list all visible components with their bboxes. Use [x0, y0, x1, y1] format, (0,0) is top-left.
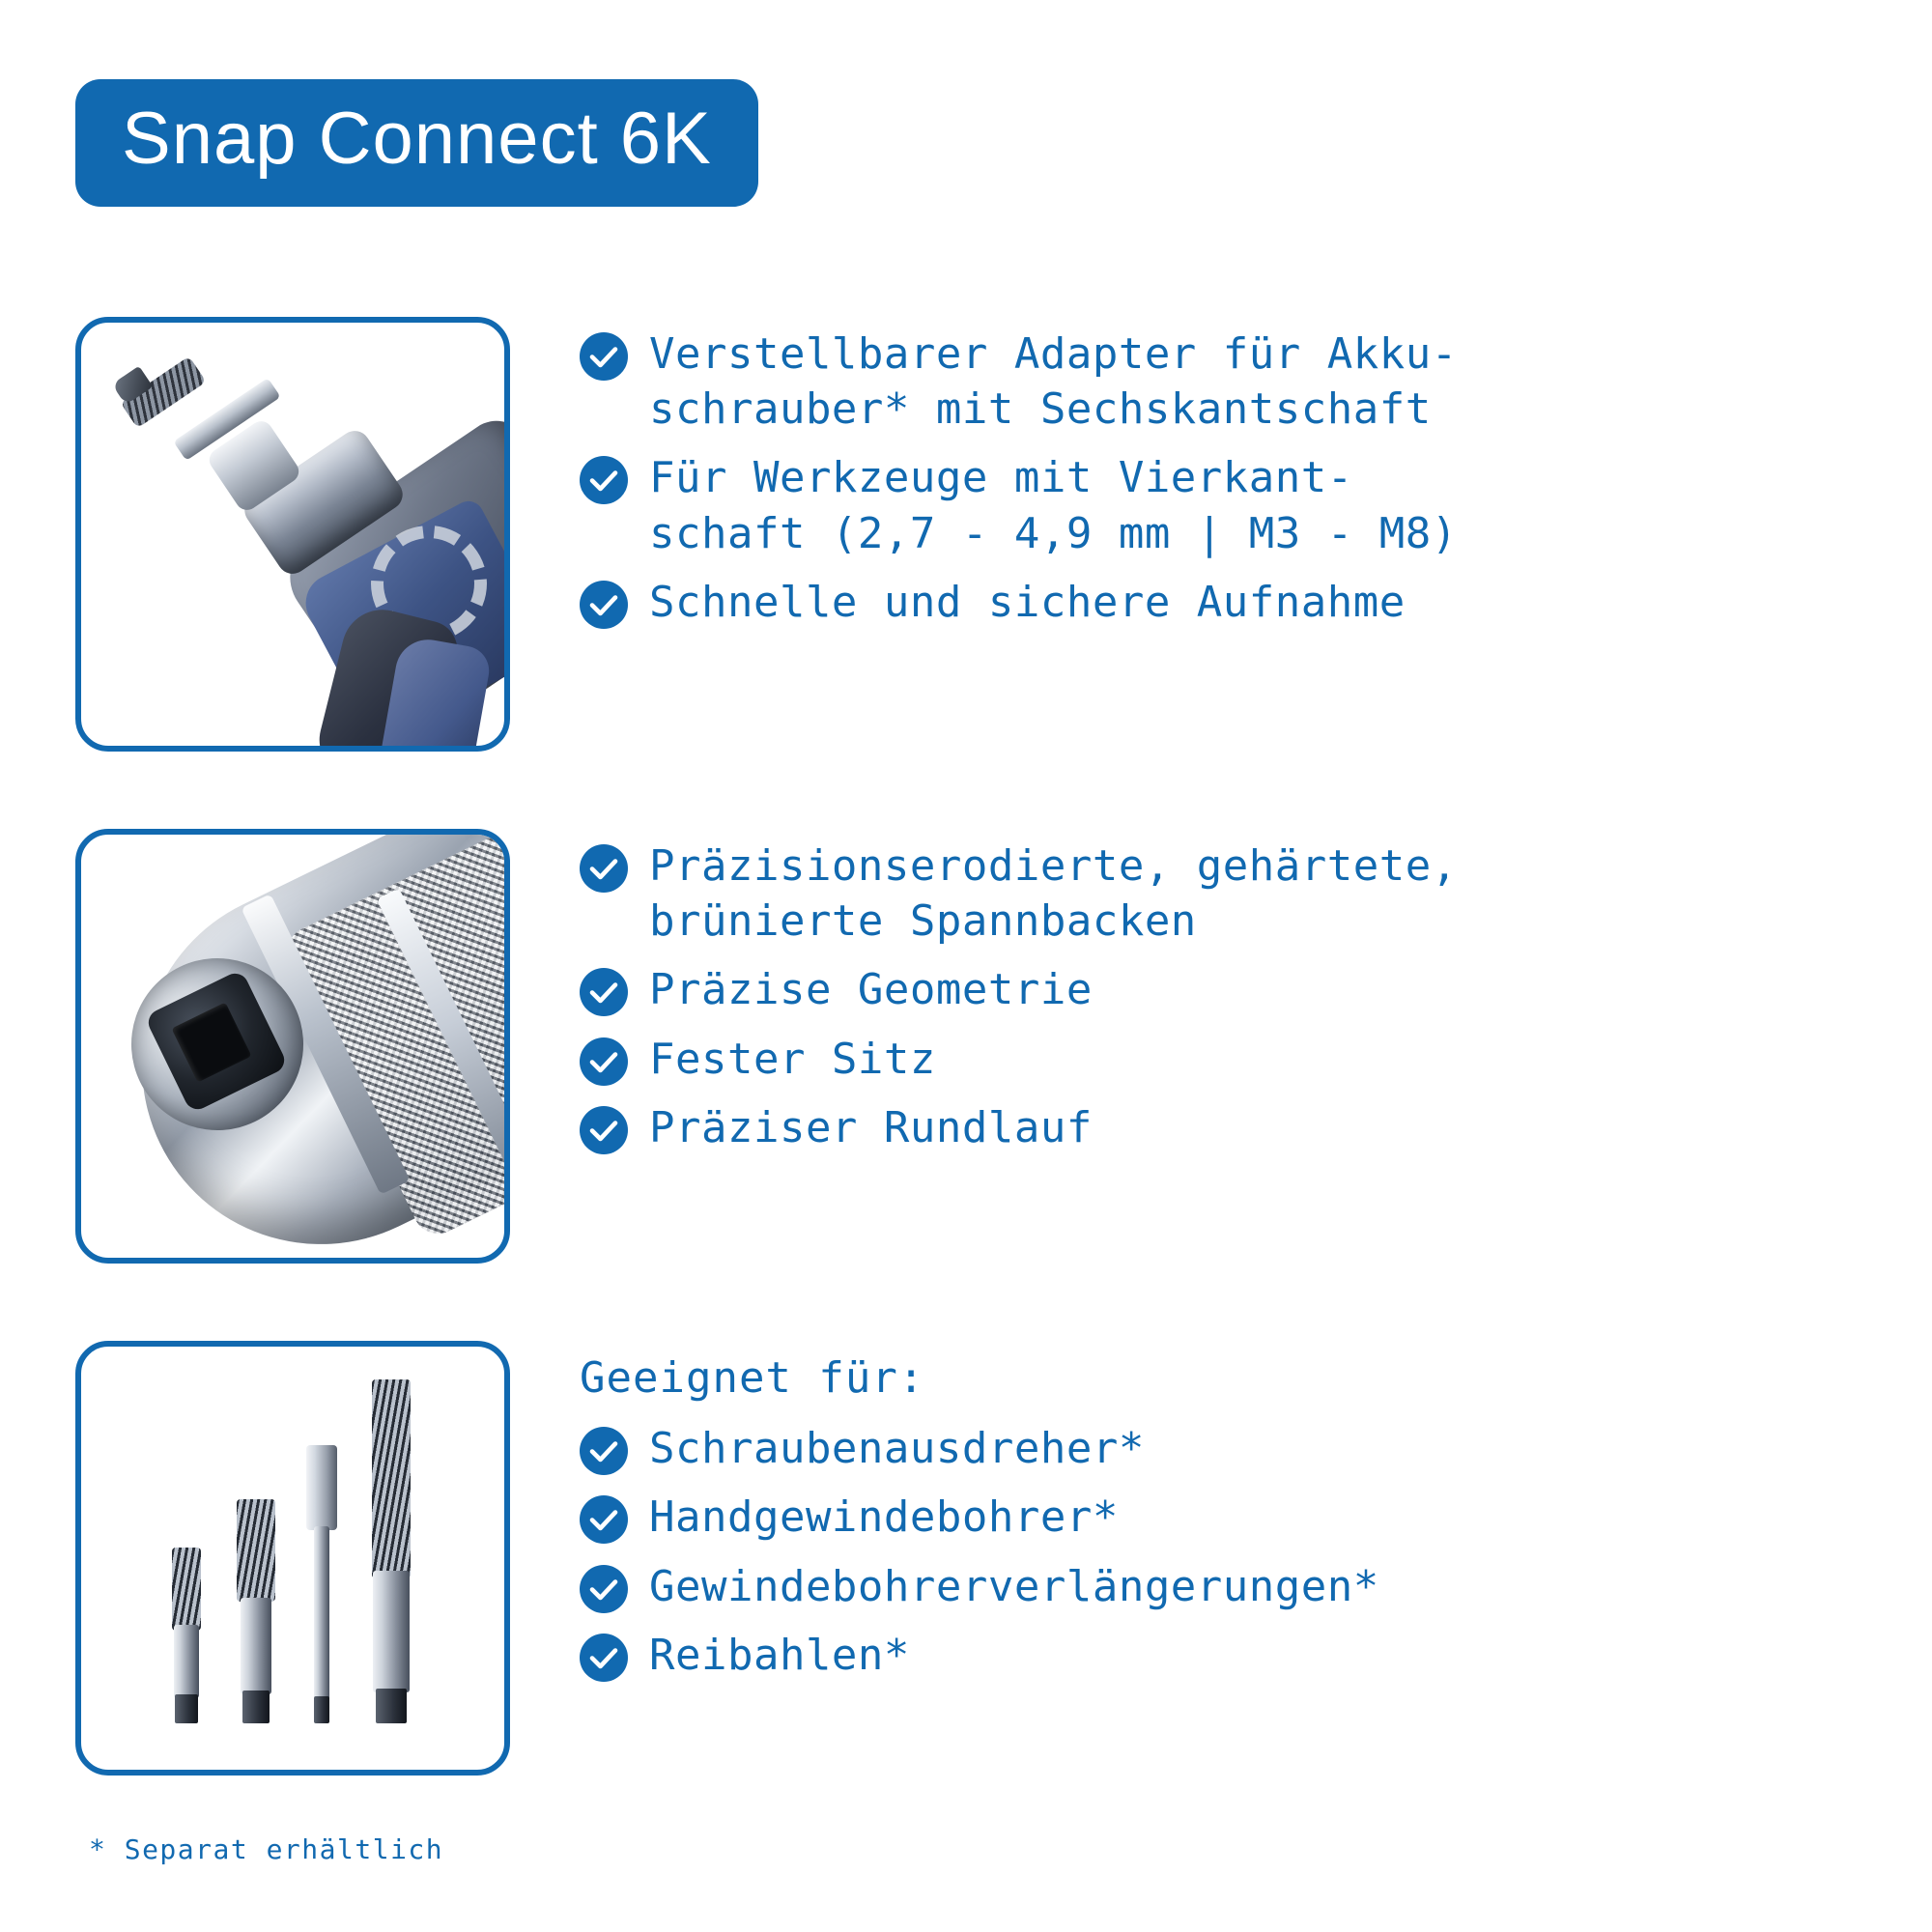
list-item-label: Handgewindebohrer* [649, 1490, 1119, 1545]
product-image-frame-chuck [75, 829, 510, 1264]
bullet-list-adapter: Verstellbarer Adapter für Akku- schraube… [580, 327, 1872, 630]
check-circle-icon [580, 1037, 628, 1086]
list-item-label: Schraubenausdreher* [649, 1421, 1145, 1476]
tool-reamer [371, 1376, 412, 1723]
feature-section-clamping-jaws: Präzisionserodierte, gehärtete, brüniert… [75, 829, 1872, 1264]
list-item: Gewindebohrerverlängerungen* [580, 1559, 1872, 1614]
check-circle-icon [580, 1565, 628, 1613]
list-item-label: Präzise Geometrie [649, 962, 1093, 1017]
reamer-shank [373, 1571, 410, 1692]
bullet-list-clamping-jaws: Präzisionserodierte, gehärtete, brüniert… [580, 838, 1872, 1155]
list-item: Handgewindebohrer* [580, 1490, 1872, 1545]
list-item: Schnelle und sichere Aufnahme [580, 575, 1872, 630]
check-circle-icon [580, 456, 628, 504]
tool-screw-extractor [170, 1530, 203, 1723]
footnote-separately-available: * Separat erhältlich [89, 1833, 443, 1865]
extractor-spiral-flute [172, 1548, 201, 1631]
check-circle-icon [580, 968, 628, 1016]
extension-square-drive [314, 1696, 329, 1723]
list-item: Verstellbarer Adapter für Akku- schraube… [580, 327, 1872, 437]
list-item-label: Reibahlen* [649, 1628, 910, 1683]
feature-list-adapter: Verstellbarer Adapter für Akku- schraube… [580, 317, 1872, 643]
feature-section-adapter: Verstellbarer Adapter für Akku- schraube… [75, 317, 1872, 752]
list-item: Reibahlen* [580, 1628, 1872, 1683]
list-item-label: Verstellbarer Adapter für Akku- schraube… [649, 327, 1458, 437]
list-item: Präzise Geometrie [580, 962, 1872, 1017]
check-circle-icon [580, 581, 628, 629]
list-item-label: Gewindebohrerverlängerungen* [649, 1559, 1379, 1614]
product-title-badge: Snap Connect 6K [75, 79, 758, 207]
suitable-for-heading: Geeignet für: [580, 1350, 1872, 1406]
tool-tap-extension [305, 1443, 338, 1723]
product-image-frame-adapter [75, 317, 510, 752]
product-image-frame-tools [75, 1341, 510, 1776]
reamer-square-drive [376, 1689, 407, 1723]
check-circle-icon [580, 1106, 628, 1154]
bullet-list-suitable-for: Schraubenausdreher* Handgewindebohrer* [580, 1421, 1872, 1683]
extractor-shank [174, 1625, 199, 1698]
tool-hand-tap [236, 1492, 276, 1723]
feature-list-suitable-for: Geeignet für: Schraubenausdreher* [580, 1341, 1872, 1696]
list-item: Präziser Rundlauf [580, 1100, 1872, 1155]
list-item: Schraubenausdreher* [580, 1421, 1872, 1476]
list-item-label: Fester Sitz [649, 1032, 936, 1087]
list-item-label: Schnelle und sichere Aufnahme [649, 575, 1406, 630]
check-circle-icon [580, 1495, 628, 1544]
photo-cordless-screwdriver [81, 323, 504, 746]
product-infographic: Snap Connect 6K [0, 0, 1932, 1932]
list-item-label: Für Werkzeuge mit Vierkant- schaft (2,7 … [649, 450, 1458, 560]
reamer-flutes [372, 1379, 411, 1578]
tap-thread-section [237, 1499, 275, 1602]
check-circle-icon [580, 332, 628, 381]
list-item: Präzisionserodierte, gehärtete, brüniert… [580, 838, 1872, 949]
tap-shank [241, 1598, 271, 1694]
extension-collar [306, 1445, 337, 1530]
check-circle-icon [580, 1427, 628, 1475]
photo-tool-set [81, 1347, 504, 1770]
list-item-label: Präzisionserodierte, gehärtete, brüniert… [649, 838, 1458, 949]
photo-chuck-head [81, 835, 504, 1258]
extension-rod [314, 1526, 329, 1700]
check-circle-icon [580, 844, 628, 893]
list-item-label: Präziser Rundlauf [649, 1100, 1093, 1155]
list-item: Für Werkzeuge mit Vierkant- schaft (2,7 … [580, 450, 1872, 560]
feature-list-clamping-jaws: Präzisionserodierte, gehärtete, brüniert… [580, 829, 1872, 1169]
check-circle-icon [580, 1634, 628, 1682]
list-item: Fester Sitz [580, 1032, 1872, 1087]
extractor-square-drive [175, 1694, 198, 1723]
feature-section-suitable-for: Geeignet für: Schraubenausdreher* [75, 1341, 1872, 1776]
tap-square-drive [242, 1690, 270, 1723]
